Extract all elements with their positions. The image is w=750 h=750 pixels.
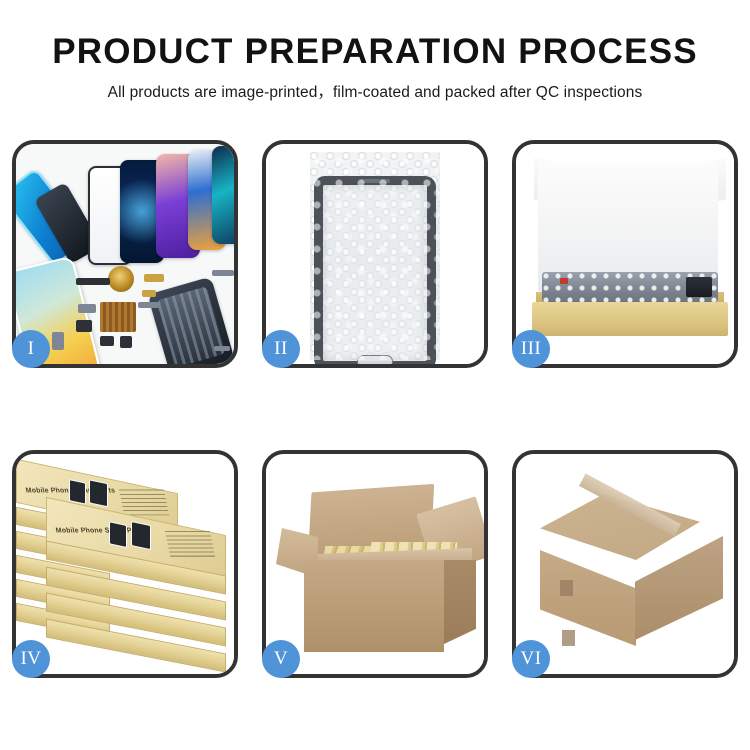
step-5-image	[266, 454, 484, 674]
step-badge-1: I	[12, 330, 50, 368]
step-1-image	[16, 144, 234, 364]
bubble-wrap-sheet	[310, 152, 440, 360]
box-artwork-screen-d	[131, 521, 151, 550]
step-badge-2: II	[262, 330, 300, 368]
box-spec-text-block-a	[119, 489, 169, 516]
qc-sticker	[560, 278, 568, 284]
sim-tray-part	[52, 332, 64, 350]
flex-cable-part	[76, 278, 110, 285]
carton-handle-notch-top	[560, 580, 573, 596]
vibrator-part	[120, 336, 132, 348]
chip-part	[76, 320, 92, 332]
step-badge-4: IV	[12, 640, 50, 678]
screw-set-part	[214, 346, 230, 351]
process-step-panel-4[interactable]: Mobile Phone Spare Parts Mobile Phone Sp…	[12, 450, 238, 678]
screwdriver-part	[212, 270, 234, 276]
process-step-panel-2[interactable]: II	[262, 140, 488, 368]
page-title: PRODUCT PREPARATION PROCESS	[0, 34, 750, 71]
battery-connector-part	[100, 336, 114, 346]
step-3-image	[516, 144, 734, 364]
step-4-image: Mobile Phone Spare Parts Mobile Phone Sp…	[16, 454, 234, 674]
carton-side-wall	[444, 560, 476, 644]
process-step-panel-1[interactable]: I	[12, 140, 238, 368]
carton-front-wall	[304, 560, 444, 652]
box-artwork-screen-c	[109, 521, 127, 548]
kraft-box-front-wall	[532, 302, 728, 336]
page-subtitle: All products are image-printed，film-coat…	[0, 80, 750, 102]
antenna-strip-part	[138, 302, 160, 308]
gold-bracket-part	[142, 290, 156, 297]
step-2-image	[266, 144, 484, 364]
connector-pad-part	[100, 302, 136, 332]
teal-gradient-screen	[212, 146, 234, 244]
wrapped-phone-screen	[314, 176, 436, 364]
step-6-image	[516, 454, 734, 674]
camera-module-part	[78, 304, 96, 313]
process-step-panel-3[interactable]: III	[512, 140, 738, 368]
step-badge-6: VI	[512, 640, 550, 678]
box-spec-text-block-b	[165, 530, 215, 557]
packed-wrapped-screen	[542, 272, 718, 302]
speaker-coil-part	[108, 266, 134, 292]
step-badge-5: V	[262, 640, 300, 678]
gold-contact-part	[144, 274, 164, 282]
step-badge-3: III	[512, 330, 550, 368]
process-step-panel-6[interactable]: VI	[512, 450, 738, 678]
box-artwork-screen-b	[89, 479, 108, 507]
process-step-panel-5[interactable]: V	[262, 450, 488, 678]
process-step-grid: I II III	[12, 140, 738, 678]
box-artwork-screen-a	[69, 479, 86, 505]
carton-handle-notch-bottom	[562, 630, 575, 646]
page-header: PRODUCT PREPARATION PROCESS All products…	[0, 0, 750, 102]
sealed-carton-front	[540, 550, 636, 646]
box-stack: Mobile Phone Spare Parts Mobile Phone Sp…	[16, 454, 234, 674]
